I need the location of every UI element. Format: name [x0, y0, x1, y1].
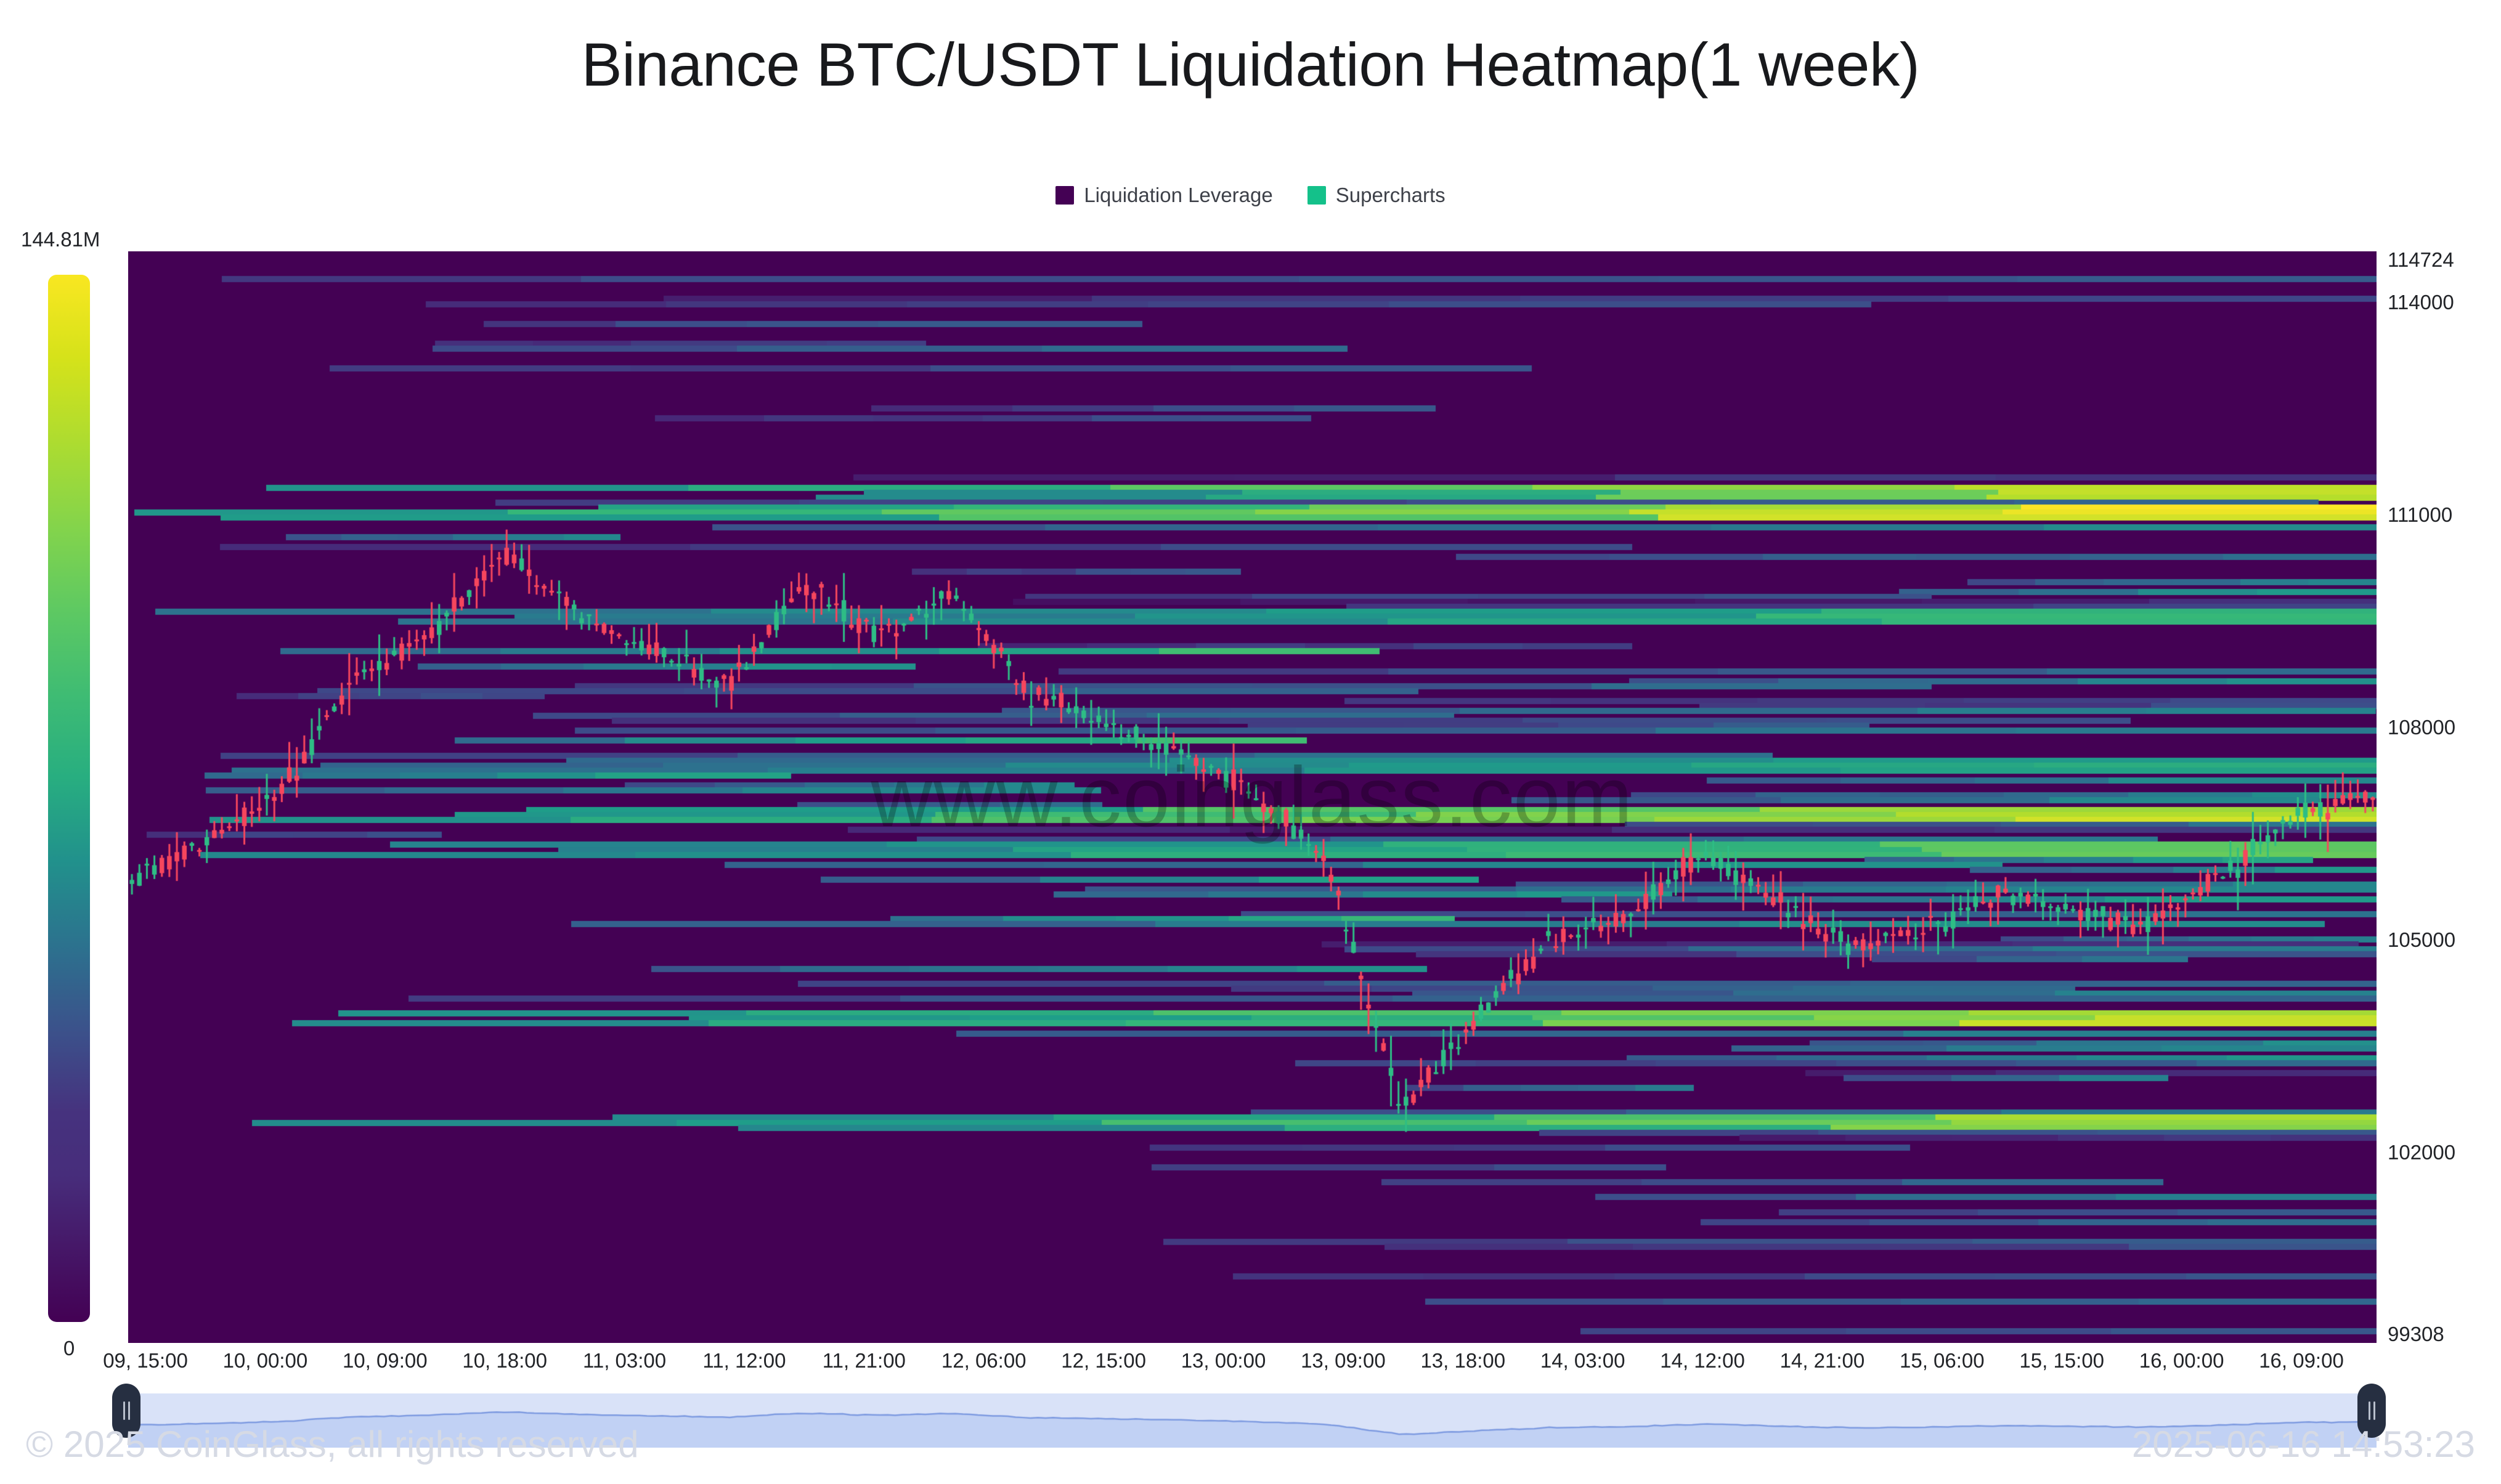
colorbar: 144.81M 0 [31, 265, 90, 1337]
legend-item-label: Liquidation Leverage [1084, 185, 1272, 205]
legend-item-label: Supercharts [1336, 185, 1446, 205]
x-axis-tick-label: 14, 03:00 [1540, 1349, 1625, 1372]
page-title: Binance BTC/USDT Liquidation Heatmap(1 w… [0, 30, 2501, 100]
x-axis-tick-label: 12, 06:00 [941, 1349, 1027, 1372]
y-axis-tick-label: 105000 [2388, 928, 2455, 952]
x-axis-tick-label: 12, 15:00 [1061, 1349, 1146, 1372]
square-swatch-icon [1055, 186, 1074, 205]
colorbar-gradient [48, 275, 90, 1322]
timestamp-text: 2025-06-16 14:53:23 [2132, 1423, 2475, 1466]
drag-handle-icon [2369, 1401, 2370, 1420]
x-axis-tick-label: 16, 00:00 [2139, 1349, 2224, 1372]
legend-item-supercharts[interactable]: Supercharts [1307, 185, 1446, 205]
x-axis-tick-label: 16, 09:00 [2259, 1349, 2344, 1372]
y-axis: 1147241140001110001080001050001020009930… [2388, 251, 2501, 1343]
colorbar-max-label: 144.81M [21, 228, 113, 251]
square-swatch-icon [1307, 186, 1326, 205]
x-axis-tick-label: 11, 21:00 [823, 1349, 906, 1372]
x-axis-tick-label: 13, 18:00 [1420, 1349, 1505, 1372]
y-axis-tick-label: 102000 [2388, 1141, 2455, 1164]
x-axis-tick-label: 10, 00:00 [223, 1349, 308, 1372]
x-axis-tick-label: 10, 18:00 [462, 1349, 547, 1372]
x-axis-tick-label: 15, 15:00 [2019, 1349, 2104, 1372]
y-axis-tick-label: 99308 [2388, 1323, 2444, 1346]
x-axis-tick-label: 14, 21:00 [1780, 1349, 1865, 1372]
x-axis-tick-label: 11, 03:00 [583, 1349, 666, 1372]
legend-item-liquidation-leverage[interactable]: Liquidation Leverage [1055, 185, 1272, 205]
chart-legend: Liquidation Leverage Supercharts [0, 185, 2501, 205]
y-axis-tick-label: 114724 [2388, 248, 2454, 272]
x-axis-tick-label: 09, 15:00 [103, 1349, 188, 1372]
y-axis-tick-label: 114000 [2388, 291, 2454, 314]
x-axis: 09, 15:0010, 00:0010, 09:0010, 18:0011, … [128, 1349, 2377, 1386]
x-axis-tick-label: 11, 12:00 [702, 1349, 786, 1372]
x-axis-tick-label: 10, 09:00 [343, 1349, 428, 1372]
copyright-text: © 2025 CoinGlass, all rights reserved [26, 1423, 639, 1466]
x-axis-tick-label: 13, 09:00 [1301, 1349, 1386, 1372]
liquidation-heatmap-plot[interactable]: www.coinglass.com [128, 251, 2377, 1343]
colorbar-min-label: 0 [48, 1337, 90, 1360]
candlestick-layer [128, 251, 2377, 1343]
x-axis-tick-label: 15, 06:00 [1900, 1349, 1985, 1372]
drag-handle-icon [2373, 1401, 2375, 1420]
drag-handle-icon [128, 1401, 130, 1420]
y-axis-tick-label: 111000 [2388, 503, 2452, 527]
y-axis-tick-label: 108000 [2388, 716, 2455, 739]
drag-handle-icon [123, 1401, 125, 1420]
x-axis-tick-label: 13, 00:00 [1181, 1349, 1266, 1372]
x-axis-tick-label: 14, 12:00 [1660, 1349, 1745, 1372]
